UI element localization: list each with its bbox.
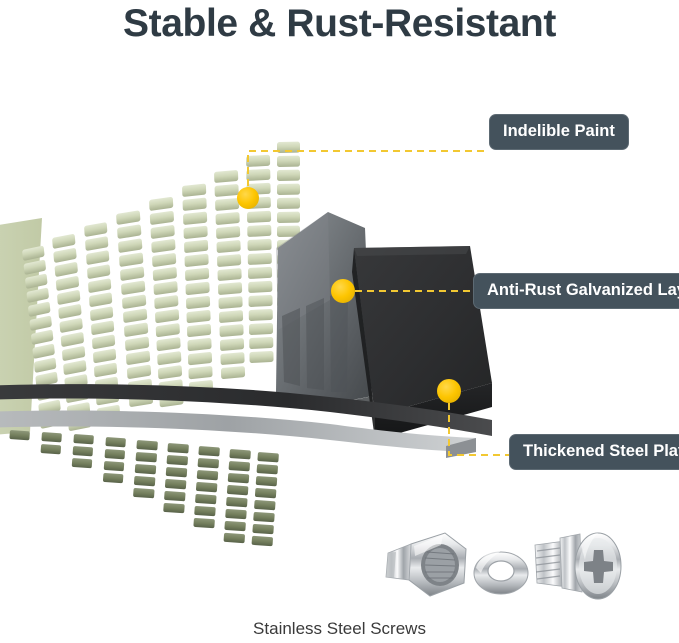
hardware-phillips-bolt: [535, 533, 621, 599]
product-cutaway-illustration: [0, 0, 679, 643]
hardware-flat-washer: [474, 551, 528, 594]
hardware-hex-nut: [386, 533, 466, 596]
page-title: Stable & Rust-Resistant: [0, 2, 679, 46]
callout-dot-indelible-paint: [237, 187, 259, 209]
callout-dot-steel-plate: [437, 379, 461, 403]
stainless-steel-screws-caption: Stainless Steel Screws: [0, 619, 679, 639]
infographic-canvas: Stable & Rust-Resistant Indelible Paint …: [0, 0, 679, 643]
callout-label-thickened-steel-plate[interactable]: Thickened Steel Plate: [509, 434, 679, 470]
callout-dot-galvanized: [331, 279, 355, 303]
underside-mesh-panel: [9, 430, 279, 546]
callout-label-indelible-paint[interactable]: Indelible Paint: [489, 114, 629, 150]
callout-label-anti-rust-galvanized-layer[interactable]: Anti-Rust Galvanized Layer: [473, 273, 679, 309]
